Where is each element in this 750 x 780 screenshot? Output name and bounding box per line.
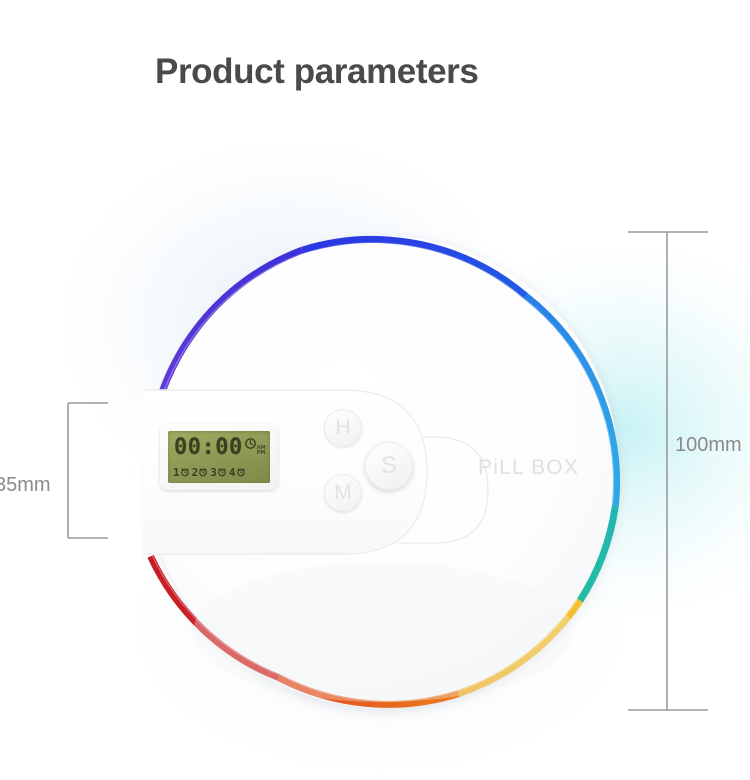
- lcd-pm-label: PM: [257, 451, 266, 456]
- dimension-left: [68, 403, 108, 538]
- pill-box-device: 00:00 AM PM 1: [143, 232, 623, 712]
- lcd-ampm-indicator: AM PM: [257, 446, 266, 457]
- alarm-bell-icon: [236, 467, 246, 477]
- control-panel: 00:00 AM PM 1: [143, 384, 433, 560]
- lcd-slot-1: 1: [173, 467, 190, 478]
- lcd-alarm-slots: 1 2: [173, 464, 267, 480]
- lcd-slot-3-number: 3: [210, 467, 217, 478]
- hour-button[interactable]: H: [324, 409, 362, 447]
- lcd-slot-4: 4: [229, 467, 246, 478]
- dimension-diameter-label: 100mm: [675, 434, 742, 457]
- lcd-time-row: 00:00 AM PM: [174, 435, 266, 461]
- body-shading: [193, 562, 573, 702]
- lcd-bezel: 00:00 AM PM 1: [160, 424, 278, 490]
- lcd-slot-2-number: 2: [192, 467, 199, 478]
- brand-label: PiLL BOX: [478, 456, 579, 480]
- lcd-slot-3: 3: [210, 467, 227, 478]
- clock-icon: [245, 438, 256, 449]
- dimension-right: [628, 232, 708, 710]
- alarm-bell-icon: [180, 467, 190, 477]
- set-button[interactable]: S: [365, 442, 413, 490]
- page-title: Product parameters: [155, 52, 478, 92]
- lcd-slot-1-number: 1: [173, 467, 180, 478]
- lcd-slot-4-number: 4: [229, 467, 236, 478]
- dimension-height-label: 35mm: [0, 474, 51, 497]
- alarm-bell-icon: [198, 467, 208, 477]
- minute-button[interactable]: M: [324, 474, 362, 512]
- lcd-screen: 00:00 AM PM 1: [168, 431, 270, 483]
- lcd-time-value: 00:00: [174, 437, 243, 459]
- alarm-bell-icon: [217, 467, 227, 477]
- lcd-slot-2: 2: [192, 467, 209, 478]
